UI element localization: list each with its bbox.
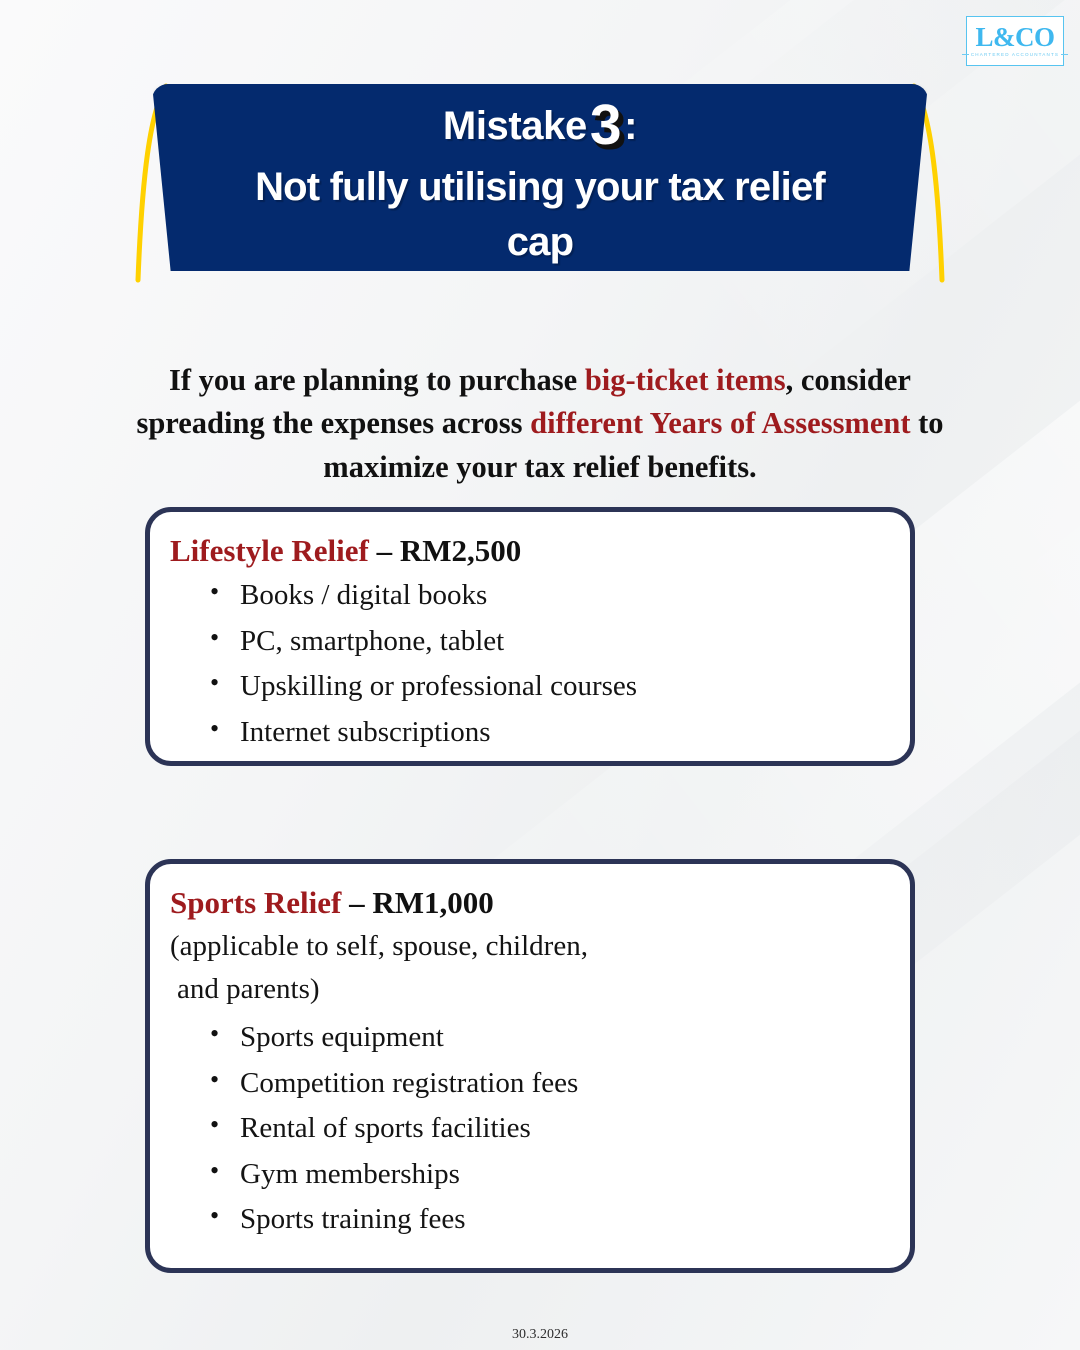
card-title: Lifestyle Relief – RM2,500 [170,532,886,569]
header-line-1: Mistake3: [443,81,637,160]
header-banner-group: Mistake3: Not fully utilising your tax r… [138,84,942,280]
card-note-line-1: (applicable to self, spouse, children, [170,930,588,962]
card-content: Sports Relief – RM1,000 (applicable to s… [150,864,910,1253]
company-logo: L&CO CHARTERED ACCOUNTANTS [966,16,1064,66]
card-note: (applicable to self, spouse, children, a… [170,925,886,1011]
list-item: Upskilling or professional courses [208,664,886,710]
footer-date: 30.3.2026 [0,1327,1080,1343]
card-title-separator: – [341,885,372,920]
relief-card-lifestyle: Lifestyle Relief – RM2,500 Books / digit… [145,507,915,766]
logo-tagline: CHARTERED ACCOUNTANTS [971,52,1059,57]
card-title-name: Sports Relief [170,885,341,920]
logo-rule-right [1061,54,1068,55]
intro-paragraph: If you are planning to purchase big-tick… [104,359,976,491]
card-title-amount: RM2,500 [400,533,521,568]
header-mistake-label: Mistake [443,104,587,148]
diagonal-band [960,0,1080,778]
list-item: Rental of sports facilities [208,1106,886,1152]
intro-highlight-1: big-ticket items [585,363,786,397]
card-title-separator: – [369,533,400,568]
header-colon: : [624,104,637,148]
card-note-line-2: and parents) [170,968,886,1011]
intro-highlight-2: different Years of Assessment [530,406,910,440]
list-item: Gym memberships [208,1152,886,1198]
header-mistake-number: 3 [587,93,624,157]
logo-rule-left [962,54,969,55]
card-title: Sports Relief – RM1,000 [170,884,886,921]
list-item: Sports equipment [208,1015,886,1061]
intro-text-1: If you are planning to purchase [169,363,585,397]
header-line-2: Not fully utilising your tax relief [255,160,825,215]
list-item: Sports training fees [208,1197,886,1243]
header-banner: Mistake3: Not fully utilising your tax r… [152,84,928,271]
list-item: Books / digital books [208,573,886,619]
card-title-amount: RM1,000 [372,885,493,920]
card-content: Lifestyle Relief – RM2,500 Books / digit… [150,512,910,765]
list-item: Internet subscriptions [208,710,886,756]
poster-canvas: L&CO CHARTERED ACCOUNTANTS Mistake3: Not… [0,0,1080,1350]
header-line-3: cap [507,215,574,270]
relief-card-sports: Sports Relief – RM1,000 (applicable to s… [145,859,915,1273]
list-item: Competition registration fees [208,1061,886,1107]
card-title-name: Lifestyle Relief [170,533,369,568]
card-item-list: Books / digital books PC, smartphone, ta… [170,573,886,755]
card-item-list: Sports equipment Competition registratio… [170,1015,886,1243]
logo-tagline-row: CHARTERED ACCOUNTANTS [962,52,1068,57]
list-item: PC, smartphone, tablet [208,619,886,665]
logo-wordmark: L&CO [976,25,1055,51]
